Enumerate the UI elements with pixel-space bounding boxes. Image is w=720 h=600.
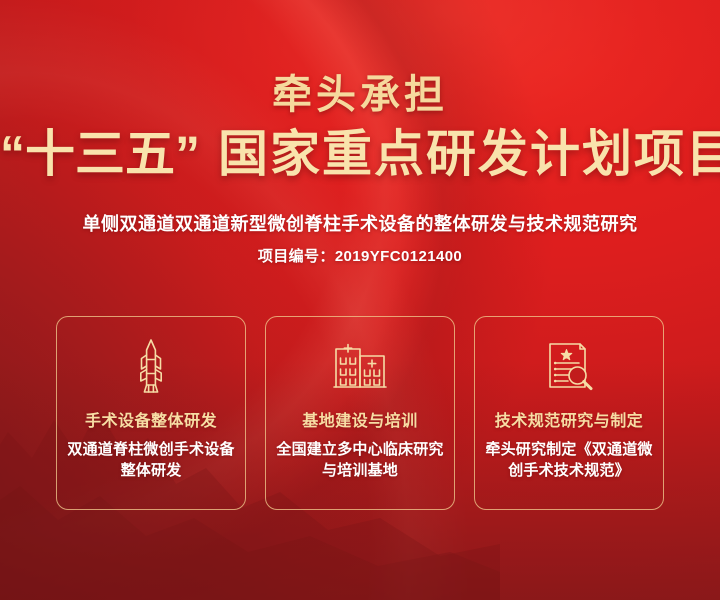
card-description: 牵头研究制定《双通道微创手术技术规范》 (485, 439, 653, 482)
hospital-building-icon (333, 339, 387, 393)
card-description: 双通道脊柱微创手术设备整体研发 (67, 439, 235, 482)
headline-block: 牵头承担 “十三五”国家重点研发计划项目 (0, 74, 720, 183)
document-magnifier-icon (542, 339, 596, 393)
card-title: 手术设备整体研发 (85, 407, 217, 431)
main-title: “十三五”国家重点研发计划项目 (0, 125, 720, 183)
lead-title: 牵头承担 (0, 74, 720, 117)
subtitle: 单侧双通道双通道新型微创脊柱手术设备的整体研发与技术规范研究 (0, 210, 720, 236)
card-surgical-equipment[interactable]: 手术设备整体研发 双通道脊柱微创手术设备整体研发 (56, 316, 246, 510)
card-list: 手术设备整体研发 双通道脊柱微创手术设备整体研发 (56, 316, 664, 510)
rocket-icon (124, 339, 178, 393)
card-title: 技术规范研究与制定 (495, 407, 644, 431)
main-title-rest: 国家重点研发计划项目 (218, 126, 720, 182)
main-title-quoted: “十三五” (0, 126, 200, 182)
card-description: 全国建立多中心临床研究与培训基地 (276, 439, 444, 482)
card-technical-standard[interactable]: 技术规范研究与制定 牵头研究制定《双通道微创手术技术规范》 (474, 316, 664, 510)
card-base-construction-training[interactable]: 基地建设与培训 全国建立多中心临床研究与培训基地 (265, 316, 455, 510)
promotional-banner: 牵头承担 “十三五”国家重点研发计划项目 单侧双通道双通道新型微创脊柱手术设备的… (0, 0, 720, 600)
card-title: 基地建设与培训 (302, 407, 418, 431)
project-number: 项目编号：2019YFC0121400 (0, 245, 720, 266)
